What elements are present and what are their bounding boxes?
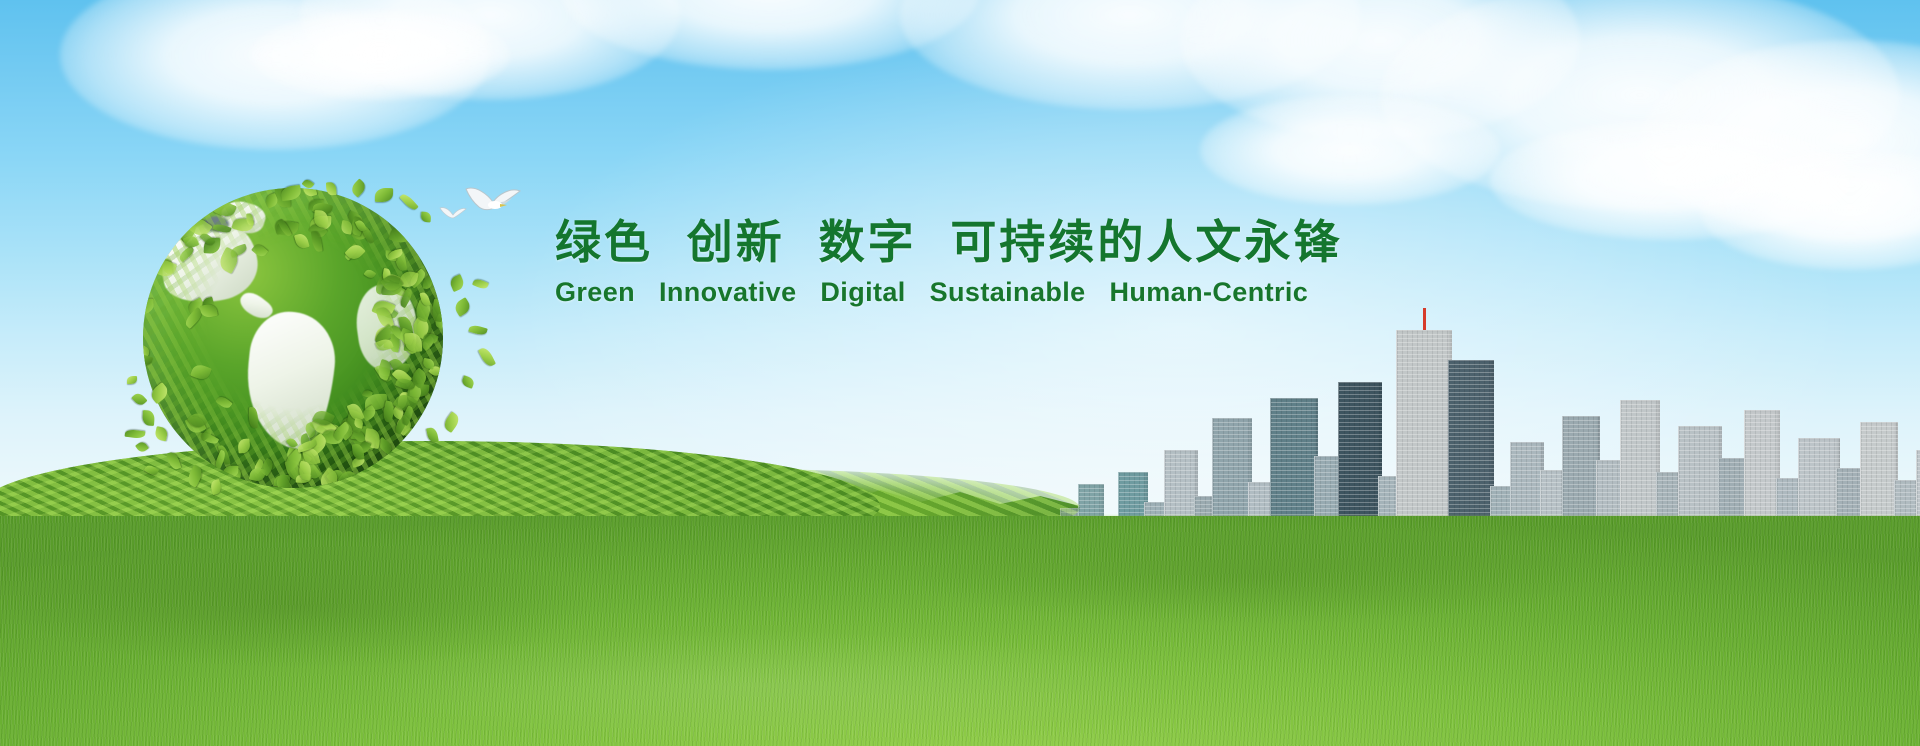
flying-seagull-small — [438, 205, 468, 223]
grass-field — [0, 516, 1920, 746]
loose-leaf — [154, 427, 168, 442]
loose-leaf — [142, 410, 155, 426]
loose-leaf — [449, 274, 466, 292]
headline-en-part-1: Green — [555, 277, 635, 307]
loose-leaf — [125, 429, 146, 440]
seagull-small-icon — [438, 205, 468, 223]
headline-english: Green Innovative Digital Sustainable Hum… — [555, 277, 1285, 308]
headline-cn-part-2: 创新 — [687, 216, 785, 268]
headline-cn-part-4: 可持续的人文永锋 — [950, 216, 1342, 268]
loose-leaf — [399, 192, 418, 212]
loose-leaf — [452, 297, 472, 317]
loose-leaf — [185, 464, 205, 487]
headline-cn-part-1: 绿色 — [555, 216, 653, 268]
loose-leaf — [442, 411, 462, 432]
loose-leaf — [127, 376, 137, 384]
globe-sphere — [143, 188, 443, 488]
loose-leaf — [209, 479, 222, 495]
loose-leaf — [166, 451, 181, 471]
tower-antenna — [1423, 308, 1426, 330]
hero-banner: 绿色 创新 数字 可持续的人文永锋 Green Innovative Digit… — [0, 0, 1920, 746]
loose-leaf — [375, 188, 393, 202]
loose-leaf — [131, 391, 147, 407]
headline-cn-part-3: 数字 — [819, 216, 917, 268]
headline-en-part-5: Human-Centric — [1109, 277, 1308, 307]
seagull-large-icon — [462, 183, 524, 219]
flying-seagull-large — [462, 183, 524, 219]
loose-leaf — [421, 212, 432, 223]
loose-leaf — [426, 427, 439, 444]
loose-leaf — [349, 178, 368, 197]
loose-leaf — [135, 440, 149, 454]
loose-leaf — [461, 375, 476, 389]
headline-chinese: 绿色 创新 数字 可持续的人文永锋 — [555, 215, 1285, 269]
loose-leaf — [144, 463, 159, 476]
headline-en-part-4: Sustainable — [930, 277, 1086, 307]
loose-leaf — [468, 324, 487, 337]
green-leaf-covered-earth-globe — [125, 180, 485, 510]
loose-leaf — [326, 182, 337, 195]
headline-en-part-3: Digital — [820, 277, 905, 307]
headline-en-part-2: Innovative — [659, 277, 797, 307]
headline-block: 绿色 创新 数字 可持续的人文永锋 Green Innovative Digit… — [555, 215, 1285, 308]
